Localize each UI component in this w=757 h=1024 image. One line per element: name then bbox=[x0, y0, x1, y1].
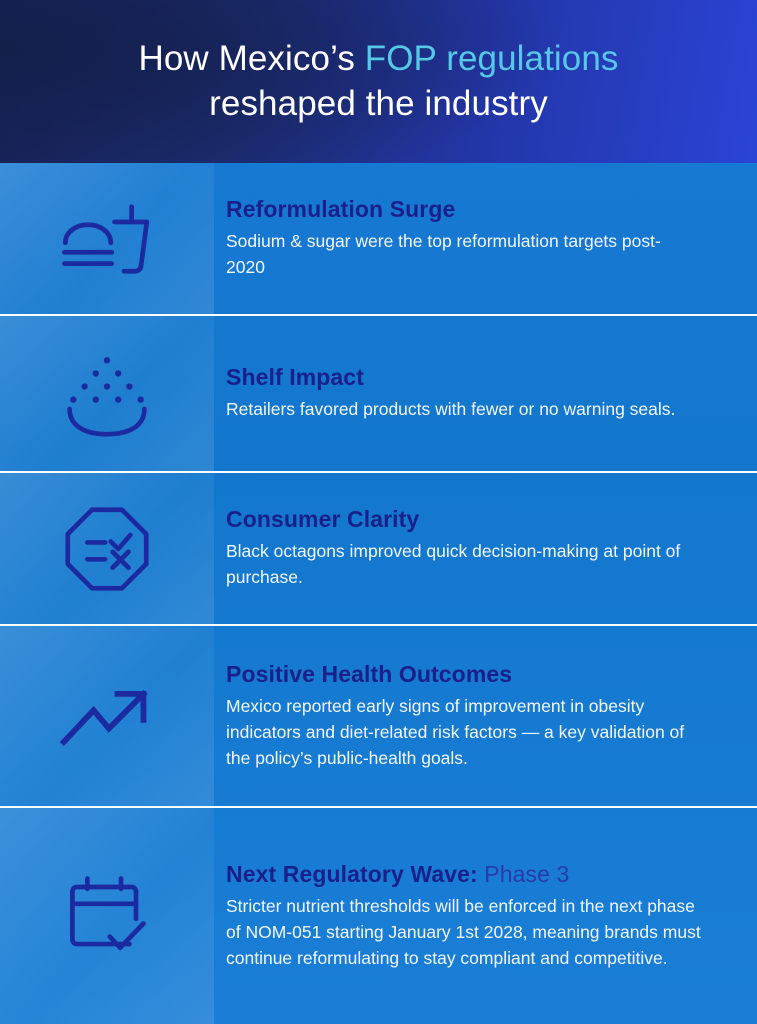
text-cell-4: Positive Health Outcomes Mexico reported… bbox=[214, 626, 757, 806]
text-cell-1: Reformulation Surge Sodium & sugar were … bbox=[214, 163, 757, 314]
row-title-5: Next Regulatory Wave: Phase 3 bbox=[226, 861, 711, 888]
row-body-3: Black octagons improved quick decision-m… bbox=[226, 539, 696, 591]
octagon-check-cross-icon bbox=[64, 506, 150, 592]
row-reformulation-surge: Reformulation Surge Sodium & sugar were … bbox=[0, 163, 757, 316]
trending-up-arrow-icon bbox=[59, 680, 155, 752]
row-title-sub-5: Phase 3 bbox=[478, 861, 570, 887]
row-title-main-2: Shelf Impact bbox=[226, 364, 364, 390]
row-shelf-impact: Shelf Impact Retailers favored products … bbox=[0, 316, 757, 473]
row-consumer-clarity: Consumer Clarity Black octagons improved… bbox=[0, 473, 757, 626]
infographic-page: How Mexico’s FOP regulations reshaped th… bbox=[0, 0, 757, 1024]
row-title-main-4: Positive Health Outcomes bbox=[226, 661, 512, 687]
calendar-check-icon bbox=[64, 873, 150, 959]
row-title-main-5: Next Regulatory Wave: bbox=[226, 861, 478, 887]
header-title-line-2: reshaped the industry bbox=[209, 82, 548, 127]
text-cell-2: Shelf Impact Retailers favored products … bbox=[214, 316, 757, 471]
row-positive-health-outcomes: Positive Health Outcomes Mexico reported… bbox=[0, 626, 757, 808]
header-title-prefix: How Mexico’s bbox=[138, 39, 364, 78]
header-banner: How Mexico’s FOP regulations reshaped th… bbox=[0, 0, 757, 163]
row-title-main-3: Consumer Clarity bbox=[226, 506, 419, 532]
sprinkling-bowl-icon bbox=[64, 351, 150, 437]
icon-cell-4 bbox=[0, 626, 214, 806]
icon-cell-3 bbox=[0, 473, 214, 624]
text-cell-5: Next Regulatory Wave: Phase 3 Stricter n… bbox=[214, 808, 757, 1024]
fast-food-burger-drink-icon bbox=[59, 203, 155, 275]
row-title-main-1: Reformulation Surge bbox=[226, 196, 455, 222]
header-title-accent: FOP regulations bbox=[365, 39, 619, 78]
row-body-4: Mexico reported early signs of improveme… bbox=[226, 694, 706, 772]
row-title-2: Shelf Impact bbox=[226, 364, 711, 391]
icon-cell-1 bbox=[0, 163, 214, 314]
row-body-1: Sodium & sugar were the top reformulatio… bbox=[226, 229, 696, 281]
icon-cell-2 bbox=[0, 316, 214, 471]
row-title-3: Consumer Clarity bbox=[226, 506, 711, 533]
row-title-1: Reformulation Surge bbox=[226, 196, 711, 223]
icon-cell-5 bbox=[0, 808, 214, 1024]
insight-rows: Reformulation Surge Sodium & sugar were … bbox=[0, 163, 757, 1024]
header-title-line-1: How Mexico’s FOP regulations bbox=[138, 37, 618, 82]
text-cell-3: Consumer Clarity Black octagons improved… bbox=[214, 473, 757, 624]
row-title-4: Positive Health Outcomes bbox=[226, 661, 711, 688]
row-next-regulatory-wave: Next Regulatory Wave: Phase 3 Stricter n… bbox=[0, 808, 757, 1024]
row-body-5: Stricter nutrient thresholds will be enf… bbox=[226, 894, 706, 972]
row-body-2: Retailers favored products with fewer or… bbox=[226, 397, 696, 423]
